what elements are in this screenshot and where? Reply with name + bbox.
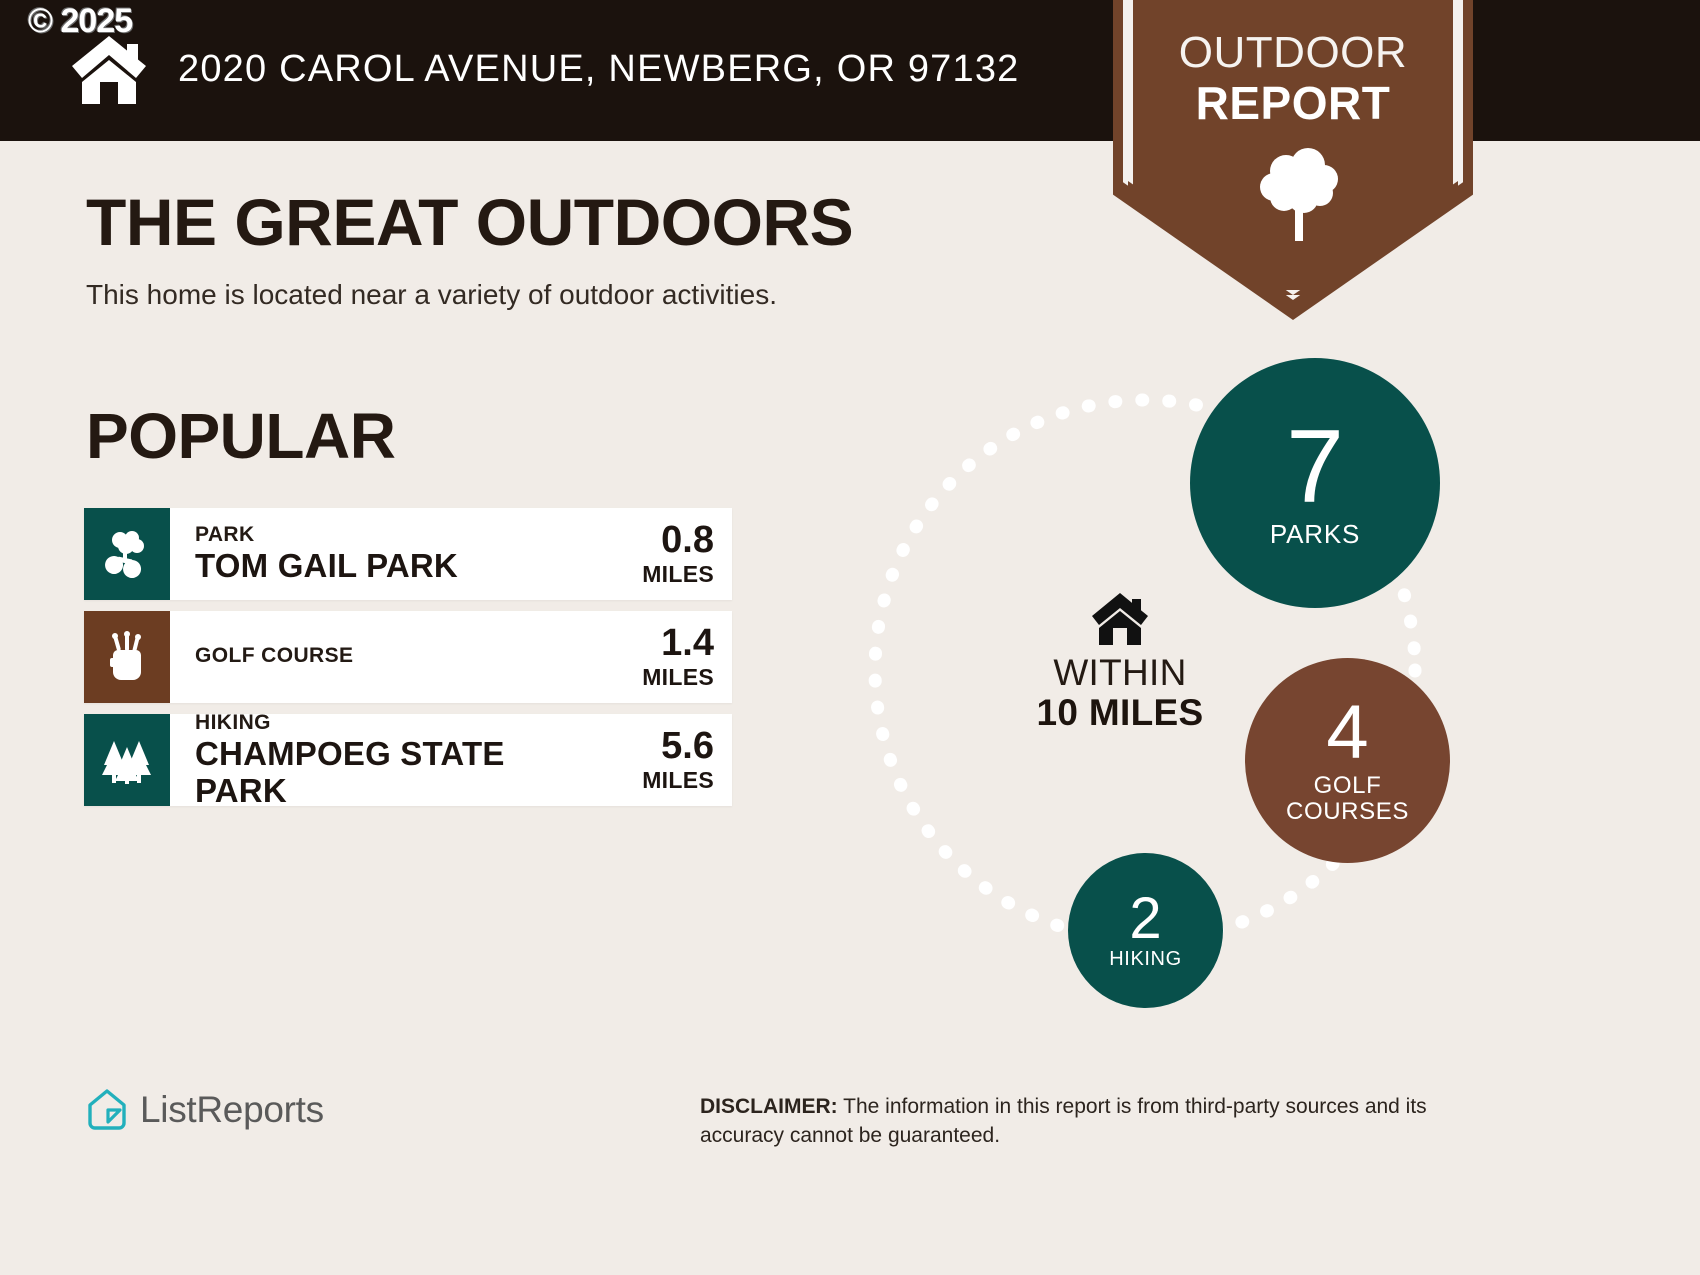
row-icon-tile [84, 508, 170, 600]
row-name: TOM GAIL PARK [195, 548, 604, 584]
pine-trees-icon [101, 735, 153, 785]
row-distance-unit: MILES [642, 767, 714, 794]
list-item[interactable]: PARK TOM GAIL PARK 0.8 MILES [84, 508, 732, 600]
row-icon-tile [84, 714, 170, 806]
diagram-center: WITHIN 10 MILES [1020, 592, 1220, 734]
house-icon [70, 34, 148, 106]
diagram-center-line2: 10 MILES [1020, 693, 1220, 734]
row-text: GOLF COURSE [170, 611, 604, 703]
row-distance-value: 5.6 [661, 727, 714, 765]
stat-label-hiking: HIKING [1109, 949, 1182, 970]
stat-label-parks: PARKS [1270, 521, 1360, 548]
listreports-house-icon [86, 1088, 128, 1132]
golf-bag-icon [104, 631, 150, 683]
outdoor-report-page: © 2025 2020 CAROL AVENUE, NEWBERG, OR 97… [0, 0, 1700, 1275]
stat-label-golf-line1: GOLF [1314, 772, 1382, 799]
stat-count-hiking: 2 [1129, 891, 1161, 946]
badge-title-line2: REPORT [1113, 76, 1473, 130]
row-category: PARK [195, 523, 604, 547]
disclaimer-label: DISCLAIMER: [700, 1095, 838, 1118]
row-distance-unit: MILES [642, 664, 714, 691]
tree-icon [1256, 145, 1342, 243]
row-distance-value: 1.4 [661, 624, 714, 662]
row-text: HIKING CHAMPOEG STATE PARK [170, 714, 604, 806]
row-distance-unit: MILES [642, 561, 714, 588]
badge-title-line1: OUTDOOR [1113, 28, 1473, 78]
stat-circle-golf-courses[interactable]: 4 GOLF COURSES [1245, 658, 1450, 863]
house-icon [1091, 592, 1149, 646]
row-distance-value: 0.8 [661, 521, 714, 559]
stat-circle-hiking[interactable]: 2 HIKING [1068, 853, 1223, 1008]
row-name [195, 669, 604, 670]
row-distance: 0.8 MILES [604, 508, 732, 600]
row-text: PARK TOM GAIL PARK [170, 508, 604, 600]
copyright-watermark: © 2025 [28, 2, 132, 41]
property-address: 2020 CAROL AVENUE, NEWBERG, OR 97132 [178, 48, 1020, 91]
stat-label-golf-line2: COURSES [1286, 798, 1409, 825]
list-item[interactable]: GOLF COURSE 1.4 MILES [84, 611, 732, 703]
outdoor-report-badge: OUTDOOR REPORT [1113, 0, 1473, 320]
list-item[interactable]: HIKING CHAMPOEG STATE PARK 5.6 MILES [84, 714, 732, 806]
listreports-logo-text: ListReports [140, 1089, 324, 1131]
popular-list: PARK TOM GAIL PARK 0.8 MILES [84, 508, 732, 817]
row-icon-tile [84, 611, 170, 703]
diagram-center-line1: WITHIN [1020, 654, 1220, 693]
popular-heading: POPULAR [86, 399, 395, 473]
stat-count-golf-courses: 4 [1326, 697, 1368, 769]
row-distance: 5.6 MILES [604, 714, 732, 806]
row-category: HIKING [195, 711, 604, 735]
stat-label-golf-courses: GOLF COURSES [1286, 773, 1409, 823]
disclaimer: DISCLAIMER: The information in this repo… [700, 1093, 1500, 1151]
stat-circle-parks[interactable]: 7 PARKS [1190, 358, 1440, 608]
row-distance: 1.4 MILES [604, 611, 732, 703]
page-subtitle: This home is located near a variety of o… [86, 279, 777, 311]
amenity-count-diagram: 7 PARKS 4 GOLF COURSES 2 HIKING WITHIN 1… [820, 340, 1520, 1020]
row-category: GOLF COURSE [195, 644, 604, 668]
park-trees-icon [102, 530, 152, 578]
stat-count-parks: 7 [1286, 418, 1344, 517]
row-name: CHAMPOEG STATE PARK [195, 736, 604, 809]
listreports-logo[interactable]: ListReports [86, 1088, 324, 1132]
page-title: THE GREAT OUTDOORS [86, 184, 853, 260]
